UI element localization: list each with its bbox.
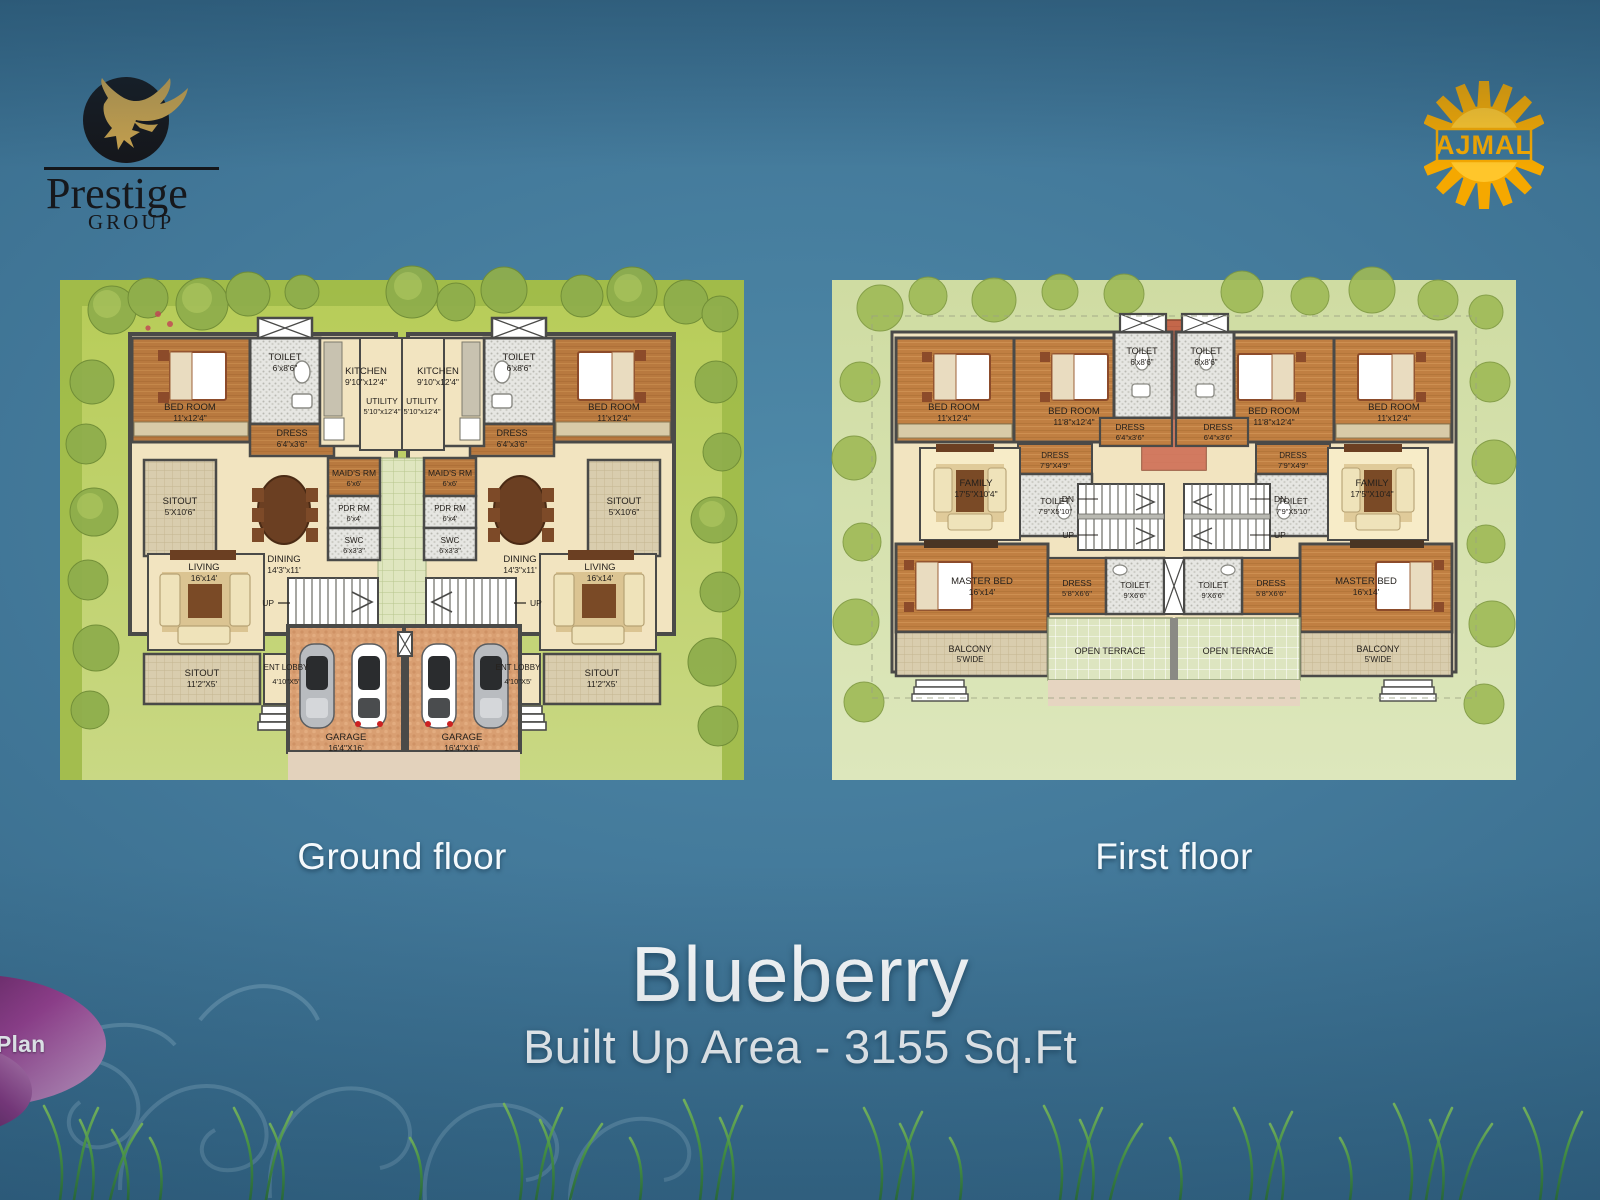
label-ff-toilet3-left: TOILET	[1120, 580, 1150, 590]
label-dining-right-dim: 14'3"x11'	[503, 565, 537, 575]
label-ff-toilet-right: TOILET	[1190, 346, 1222, 356]
built-up-area: Built Up Area - 3155 Sq.Ft	[0, 1021, 1600, 1073]
label-ent-lobby-left-dim: 4'10"X5'	[272, 677, 300, 686]
label-dining-right: DINING	[503, 554, 536, 565]
ajmal-logo-text: AJMAL	[1435, 130, 1533, 160]
label-ff-dress-right-dim: 6'4"x3'6"	[1204, 433, 1233, 442]
label-ff-family-right-dim: 17'5"X10'4"	[1350, 489, 1393, 499]
label-ff-dress3-right: DRESS	[1256, 578, 1286, 588]
label-pdr-right: PDR RM	[434, 504, 466, 513]
label-utility-left: UTILITY	[366, 396, 398, 406]
label-swc-left-dim: 6'x3'3"	[343, 546, 365, 555]
label-ff-toilet3-right-dim: 9'X6'6"	[1201, 591, 1224, 600]
stair-left	[288, 578, 378, 626]
ground-floor-plan: BED ROOM 11'x12'4" TOILET 6'x8'6" DRESS …	[52, 262, 752, 807]
stair-first-left	[1078, 484, 1164, 550]
label-ff-master-left: MASTER BED	[951, 576, 1013, 587]
label-maids-left-dim: 6'x6'	[347, 479, 363, 488]
label-swc-right-dim: 6'x3'3"	[439, 546, 461, 555]
label-living-right: LIVING	[584, 562, 615, 573]
label-dress-left: DRESS	[276, 428, 307, 438]
first-floor-drawing: BED ROOM 11'x12'4" TOILET 6'x8'6" DRESS …	[824, 262, 1524, 807]
first-floor-caption: First floor	[824, 836, 1524, 878]
label-living-left: LIVING	[188, 562, 219, 573]
label-sitout-lower-right-dim: 11'2"X5'	[587, 679, 618, 689]
label-sitout-right-dim: 5'X10'6"	[609, 507, 640, 517]
project-name: Blueberry	[0, 935, 1600, 1013]
label-utility-right: UTILITY	[406, 396, 438, 406]
label-ff-toilet3-right: TOILET	[1198, 580, 1228, 590]
ground-floor-drawing: BED ROOM 11'x12'4" TOILET 6'x8'6" DRESS …	[52, 262, 752, 807]
label-sitout-left-dim: 5'X10'6"	[165, 507, 196, 517]
label-pdr-left-dim: 6'x4'	[347, 514, 363, 523]
label-ff-toilet-left-dim: 6'x8'6"	[1130, 358, 1153, 367]
label-kitchen-right: KITCHEN	[417, 366, 459, 377]
room-utility-left	[360, 338, 402, 450]
label-ff-dn-right: DN	[1274, 494, 1286, 504]
label-dress-right-dim: 6'4"x3'6"	[497, 440, 528, 449]
room-balcony-left	[896, 632, 1048, 676]
label-ff-dress2-right-dim: 7'9"X4'9"	[1278, 461, 1308, 470]
label-ff-toilet2-left-dim: 7'9"X5'10"	[1038, 507, 1072, 516]
label-living-left-dim: 16'x14'	[191, 573, 218, 583]
label-dining-left-dim: 14'3"x11'	[267, 565, 301, 575]
room-toilet-left	[250, 338, 320, 424]
label-ent-lobby-right: ENT LOBBY	[496, 663, 541, 672]
label-dress-right: DRESS	[496, 428, 527, 438]
label-ff-dress2-left-dim: 7'9"X4'9"	[1040, 461, 1070, 470]
label-ff-master-left-dim: 16'x14'	[969, 587, 996, 597]
label-ent-lobby-right-dim: 4'10"X5'	[504, 677, 532, 686]
label-ff-bedroom-inner-right: BED ROOM	[1248, 406, 1300, 417]
label-garage-right-dim: 16'4"X16'	[444, 743, 480, 753]
label-ff-dress3-left-dim: 5'8"X6'6"	[1062, 589, 1092, 598]
label-stair-up-right: UP	[530, 598, 542, 608]
label-ff-master-right: MASTER BED	[1335, 576, 1397, 587]
ajmal-logo: AJMAL	[1424, 78, 1544, 213]
label-ff-toilet-left: TOILET	[1126, 346, 1158, 356]
label-ff-dress3-right-dim: 5'8"X6'6"	[1256, 589, 1286, 598]
label-kitchen-right-dim: 9'10"x12'4"	[417, 377, 459, 387]
label-sitout-left: SITOUT	[163, 496, 198, 507]
label-ff-up-right: UP	[1274, 530, 1286, 540]
ground-floor-caption: Ground floor	[52, 836, 752, 878]
label-ff-balcony-right-dim: 5'WIDE	[1365, 655, 1392, 664]
label-ff-dress-right: DRESS	[1203, 422, 1233, 432]
room-toilet-top-left	[1114, 332, 1172, 418]
label-ff-bedroom-left-dim: 11'x12'4"	[937, 413, 971, 423]
label-toilet-left: TOILET	[268, 352, 301, 363]
label-ff-bedroom-right-dim: 11'x12'4"	[1377, 413, 1411, 423]
label-bedroom-right-dim: 11'x12'4"	[597, 413, 631, 423]
label-ff-toilet2-right-dim: 7'9"X5'10"	[1276, 507, 1310, 516]
label-ff-dress-left: DRESS	[1115, 422, 1145, 432]
stair-right	[426, 578, 516, 626]
title-block: Blueberry Built Up Area - 3155 Sq.Ft	[0, 935, 1600, 1073]
label-ff-toilet3-left-dim: 9'X6'6"	[1123, 591, 1146, 600]
label-ff-balcony-left: BALCONY	[948, 644, 991, 654]
label-maids-left: MAID'S RM	[332, 468, 376, 478]
room-utility-right	[402, 338, 444, 450]
label-dress-left-dim: 6'4"x3'6"	[277, 440, 308, 449]
label-pdr-left: PDR RM	[338, 504, 370, 513]
label-bedroom-right: BED ROOM	[588, 402, 640, 413]
label-garage-left-dim: 16'4"X16'	[328, 743, 364, 753]
label-stair-up-left: UP	[262, 598, 274, 608]
label-toilet-right: TOILET	[502, 352, 535, 363]
svg-text:GROUP: GROUP	[88, 210, 174, 233]
label-ff-toilet-right-dim: 6'x8'6"	[1194, 358, 1217, 367]
label-ff-master-right-dim: 16'x14'	[1353, 587, 1380, 597]
stair-first-right	[1184, 484, 1270, 550]
label-ff-dress-left-dim: 6'4"x3'6"	[1116, 433, 1145, 442]
label-ff-family-left-dim: 17'5"X10'4"	[954, 489, 997, 499]
label-ff-bedroom-inner-right-dim: 11'8"x12'4"	[1253, 417, 1294, 427]
label-ff-balcony-right: BALCONY	[1356, 644, 1399, 654]
label-ff-dn-left: DN	[1062, 494, 1074, 504]
label-maids-right: MAID'S RM	[428, 468, 472, 478]
prestige-group-logo: Prestige GROUP	[44, 68, 234, 233]
label-ff-terrace-right: OPEN TERRACE	[1203, 646, 1274, 656]
label-sitout-lower-left-dim: 11'2"X5'	[187, 679, 218, 689]
label-ff-family-left: FAMILY	[959, 478, 993, 489]
label-ff-terrace-left: OPEN TERRACE	[1075, 646, 1146, 656]
room-toilet-top-right	[1176, 332, 1234, 418]
slide-background: Plan Prestige GROUP	[0, 0, 1600, 1200]
label-dining-left: DINING	[267, 554, 300, 565]
label-ff-family-right: FAMILY	[1355, 478, 1389, 489]
label-kitchen-left: KITCHEN	[345, 366, 387, 377]
label-ff-up-left: UP	[1062, 530, 1074, 540]
room-toilet-right	[484, 338, 554, 424]
label-ff-dress3-left: DRESS	[1062, 578, 1092, 588]
label-bedroom-left-dim: 11'x12'4"	[173, 413, 207, 423]
label-ff-bedroom-left: BED ROOM	[928, 402, 980, 413]
label-pdr-right-dim: 6'x4'	[443, 514, 459, 523]
label-swc-left: SWC	[345, 536, 364, 545]
label-ff-balcony-left-dim: 5'WIDE	[957, 655, 984, 664]
label-toilet-left-dim: 6'x8'6"	[273, 363, 298, 373]
label-utility-right-dim: 5'10"x12'4"	[404, 407, 441, 416]
label-ff-bedroom-inner-left: BED ROOM	[1048, 406, 1100, 417]
label-ff-bedroom-right: BED ROOM	[1368, 402, 1420, 413]
room-balcony-right	[1300, 632, 1452, 676]
label-ent-lobby-left: ENT LOBBY	[264, 663, 309, 672]
label-sitout-lower-right: SITOUT	[585, 668, 620, 679]
label-garage-left: GARAGE	[326, 732, 367, 743]
label-utility-left-dim: 5'10"x12'4"	[364, 407, 401, 416]
label-kitchen-left-dim: 9'10"x12'4"	[345, 377, 387, 387]
label-sitout-lower-left: SITOUT	[185, 668, 220, 679]
label-toilet-right-dim: 6'x8'6"	[507, 363, 532, 373]
label-ff-bedroom-inner-left-dim: 11'8"x12'4"	[1053, 417, 1094, 427]
first-floor-plan: BED ROOM 11'x12'4" TOILET 6'x8'6" DRESS …	[824, 262, 1524, 807]
label-ff-dress2-left: DRESS	[1041, 451, 1069, 460]
label-maids-right-dim: 6'x6'	[443, 479, 459, 488]
label-swc-right: SWC	[441, 536, 460, 545]
label-bedroom-left: BED ROOM	[164, 402, 216, 413]
label-sitout-right: SITOUT	[607, 496, 642, 507]
label-living-right-dim: 16'x14'	[587, 573, 614, 583]
label-ff-dress2-right: DRESS	[1279, 451, 1307, 460]
label-garage-right: GARAGE	[442, 732, 483, 743]
